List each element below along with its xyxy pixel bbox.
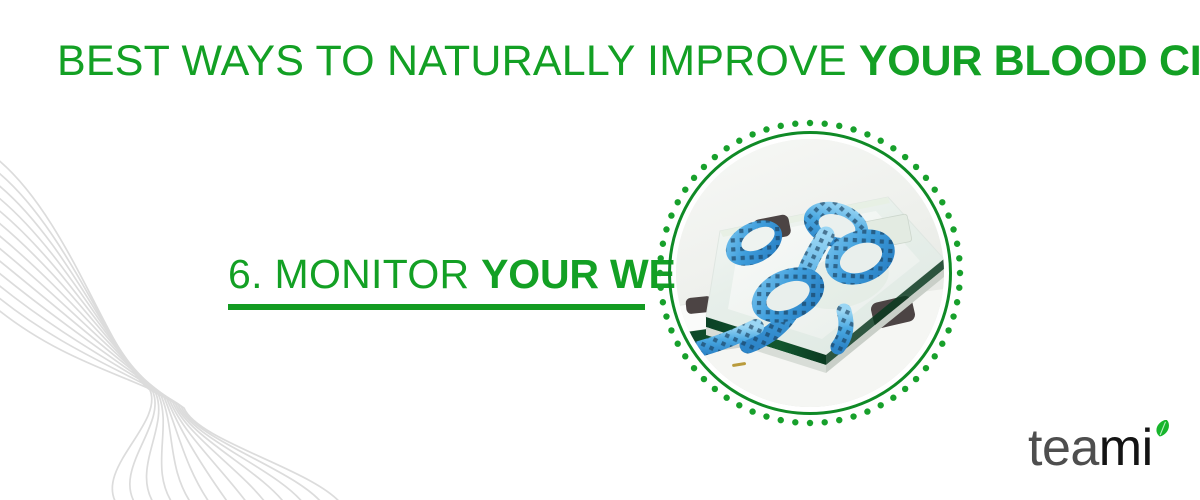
page-title-bold: YOUR BLOOD CIRCULATION: [859, 37, 1200, 85]
scale-and-measuring-tape-photo: [676, 139, 944, 407]
page-title-light: BEST WAYS TO NATURALLY IMPROVE: [57, 37, 859, 85]
logo-text-light: tea: [1028, 419, 1099, 477]
subtitle-underline-rule: [228, 304, 645, 310]
page-title: BEST WAYS TO NATURALLY IMPROVE YOUR BLOO…: [57, 36, 1200, 86]
teami-wordmark: teami: [1028, 422, 1153, 474]
decorative-swoosh: [0, 150, 340, 500]
subtitle-block: 6. MONITOR YOUR WEIGHT: [228, 250, 648, 310]
leaf-icon: [1154, 420, 1171, 437]
teami-logo: teami: [1028, 418, 1173, 476]
subtitle-light: 6. MONITOR: [228, 251, 481, 297]
subtitle: 6. MONITOR YOUR WEIGHT: [228, 250, 648, 298]
slide-canvas: BEST WAYS TO NATURALLY IMPROVE YOUR BLOO…: [0, 0, 1200, 500]
circular-photo-badge: [652, 115, 968, 431]
logo-text-bold: mi: [1099, 419, 1153, 477]
